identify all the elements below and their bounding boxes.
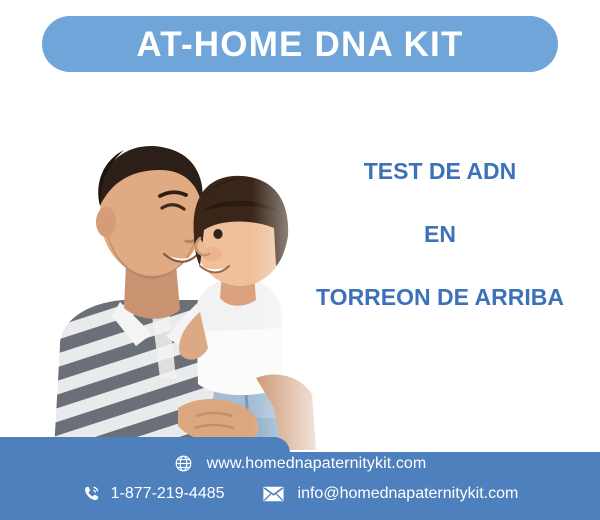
phone-item[interactable]: 1-877-219-4485	[82, 484, 263, 503]
website-text: www.homednapaternitykit.com	[207, 456, 427, 472]
page-title: AT-HOME DNA KIT	[136, 27, 463, 62]
footer-website-row: www.homednapaternitykit.com	[0, 454, 600, 473]
headline-block: TEST DE ADN EN TORREON DE ARRIBA	[292, 160, 588, 309]
phone-icon	[82, 484, 101, 503]
email-item[interactable]: info@homednapaternitykit.com	[263, 486, 519, 502]
dna-kit-banner: AT-HOME DNA KIT	[0, 0, 600, 520]
header-pill: AT-HOME DNA KIT	[42, 16, 558, 72]
footer-content: www.homednapaternitykit.com 1-877-219-44…	[0, 432, 600, 520]
family-photo-illustration	[0, 78, 340, 450]
phone-text: 1-877-219-4485	[111, 486, 225, 502]
contact-footer: www.homednapaternitykit.com 1-877-219-44…	[0, 432, 600, 520]
globe-icon	[174, 454, 193, 473]
headline-line-en: EN	[292, 223, 588, 246]
envelope-icon	[263, 486, 284, 502]
headline-line-test-de-adn: TEST DE ADN	[292, 160, 588, 183]
website-item[interactable]: www.homednapaternitykit.com	[174, 454, 427, 473]
headline-line-location: TORREON DE ARRIBA	[292, 286, 588, 309]
email-text: info@homednapaternitykit.com	[298, 486, 519, 502]
footer-contact-row: 1-877-219-4485 info@homednapaternitykit.…	[0, 484, 600, 503]
family-photo	[0, 78, 340, 450]
